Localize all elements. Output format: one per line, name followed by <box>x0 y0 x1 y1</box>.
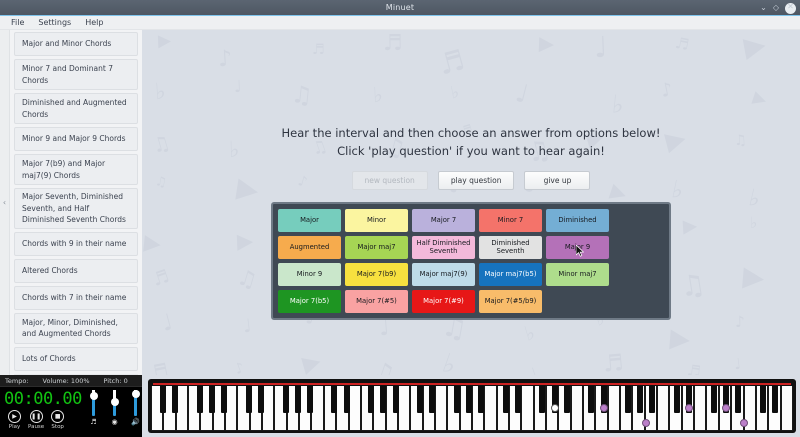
answer-button-major-7-b5[interactable]: Major 7(b5) <box>278 290 341 313</box>
sidebar-item-chords-with-7[interactable]: Chords with 7 in their name <box>14 286 138 310</box>
volume-slider[interactable]: 🔊 <box>129 390 142 437</box>
piano-black-key[interactable] <box>246 386 252 413</box>
piano-white-key[interactable] <box>521 386 533 431</box>
transport-buttons: ▶ Play ❚❚ Pause ■ Stop <box>4 410 83 430</box>
app-body: ‹ Major and Minor Chords Minor 7 and Dom… <box>0 30 800 437</box>
volume-label: Volume: 100% <box>29 377 90 385</box>
sidebar-item-major-dim-halfdim[interactable]: Major Seventh, Diminished Seventh, and H… <box>14 188 138 229</box>
piano-black-key[interactable] <box>307 386 313 413</box>
piano-black-key[interactable] <box>503 386 509 413</box>
answer-button-diminished[interactable]: Diminished <box>546 209 609 232</box>
piano-black-key[interactable] <box>344 386 350 413</box>
piano-black-key[interactable] <box>331 386 337 413</box>
sidebar-item-dim-aug[interactable]: Diminished and Augmented Chords <box>14 93 138 124</box>
lesson-list[interactable]: Major and Minor Chords Minor 7 and Domin… <box>10 30 142 375</box>
sidebar-item-major-minor-dim-aug[interactable]: Major, Minor, Diminished, and Augmented … <box>14 313 138 344</box>
mouse-cursor <box>576 245 584 257</box>
lesson-sidebar: ‹ Major and Minor Chords Minor 7 and Dom… <box>0 30 142 437</box>
piano-white-key[interactable] <box>398 386 410 431</box>
answer-button-major-7-b9[interactable]: Major 7(b9) <box>345 263 408 286</box>
chevron-left-icon: ‹ <box>3 198 6 207</box>
piano-black-key[interactable] <box>197 386 203 413</box>
answer-button-major-maj7-b5[interactable]: Major maj7(b5) <box>479 263 542 286</box>
maximize-icon[interactable]: ◇ <box>773 4 779 12</box>
piano-note-marker <box>722 404 730 412</box>
answer-button-minor-9[interactable]: Minor 9 <box>278 263 341 286</box>
piano-black-key[interactable] <box>637 386 643 413</box>
stop-label: Stop <box>51 424 64 430</box>
menu-settings[interactable]: Settings <box>31 17 78 28</box>
piano-keyboard-area <box>142 375 800 437</box>
menu-help[interactable]: Help <box>78 17 110 28</box>
sidebar-item-minor9-major9[interactable]: Minor 9 and Major 9 Chords <box>14 127 138 151</box>
piano-black-key[interactable] <box>258 386 264 413</box>
window-controls: ⌄ ◇ ✕ <box>760 0 796 16</box>
answer-button-minor-7[interactable]: Minor 7 <box>479 209 542 232</box>
menu-bar: File Settings Help <box>0 16 800 30</box>
piano-note-marker <box>551 404 559 412</box>
watermark-music-icon: ♩ <box>242 318 253 337</box>
piano-black-key[interactable] <box>209 386 215 413</box>
piano-white-key[interactable] <box>694 386 706 431</box>
answer-button-diminished-seventh[interactable]: Diminished Seventh <box>479 236 542 259</box>
piano-black-key[interactable] <box>711 386 717 413</box>
transport-area: 00:00.00 ▶ Play ❚❚ Pause ■ Stop <box>0 387 83 437</box>
watermark-music-icon: ♭ <box>522 322 537 344</box>
slider-group: ♬ ◉ 🔊 <box>83 387 142 437</box>
give-up-button[interactable]: give up <box>524 171 590 190</box>
answer-button-half-diminished-seventh[interactable]: Half Diminished Seventh <box>412 236 475 259</box>
piano-black-key[interactable] <box>295 386 301 413</box>
tempo-slider[interactable]: ♬ <box>87 390 100 437</box>
answer-button-minor-maj7[interactable]: Minor maj7 <box>546 263 609 286</box>
watermark-music-icon: ▶ <box>300 350 323 377</box>
piano-white-key[interactable] <box>608 386 620 431</box>
play-label: Play <box>8 424 21 430</box>
speaker-icon: 🔊 <box>129 418 142 426</box>
piano-black-key[interactable] <box>417 386 423 413</box>
answer-button-major[interactable]: Major <box>278 209 341 232</box>
minimize-icon[interactable]: ⌄ <box>760 4 767 12</box>
piano-white-key[interactable] <box>571 386 583 431</box>
stop-icon: ■ <box>51 410 64 423</box>
piano-black-key[interactable] <box>735 386 741 413</box>
answer-button-major-7-9[interactable]: Major 7(#9) <box>412 290 475 313</box>
sidebar-item-major-minor[interactable]: Major and Minor Chords <box>14 32 138 56</box>
piano-black-key[interactable] <box>564 386 570 413</box>
play-button[interactable]: ▶ Play <box>8 410 21 430</box>
piano-black-key[interactable] <box>454 386 460 413</box>
prompt-line-1: Hear the interval and then choose an ans… <box>142 125 800 143</box>
answer-button-major-7-5-b9[interactable]: Major 7(#5/b9) <box>479 290 542 313</box>
piano-black-key[interactable] <box>649 386 655 413</box>
watermark-music-icon: ♩ <box>733 357 742 373</box>
piano-black-key[interactable] <box>172 386 178 413</box>
answer-options-panel: MajorMinorMajor 7Minor 7DiminishedAugmen… <box>271 202 671 320</box>
piano-black-key[interactable] <box>221 386 227 413</box>
sidebar-item-minor7-dominant7[interactable]: Minor 7 and Dominant 7 Chords <box>14 59 138 90</box>
piano-black-key[interactable] <box>478 386 484 413</box>
media-player-panel: Tempo: Volume: 100% Pitch: 0 00:00.00 ▶ … <box>0 375 142 437</box>
piano-black-key[interactable] <box>160 386 166 413</box>
tempo-label: Tempo: <box>0 377 29 385</box>
player-controls: 00:00.00 ▶ Play ❚❚ Pause ■ Stop <box>0 387 142 437</box>
window-title: Minuet <box>0 3 800 12</box>
playback-timer: 00:00.00 <box>4 389 83 409</box>
sidebar-item-chords-with-9[interactable]: Chords with 9 in their name <box>14 232 138 256</box>
prompt-line-2: Click 'play question' if you want to hea… <box>142 143 800 161</box>
piano-white-key[interactable] <box>781 386 793 431</box>
piano-black-key[interactable] <box>772 386 778 413</box>
exercise-main-area: ▶♪♬♬♬▶♩♬▶♭♩♫♭♭♩♭♪▶♫♭♫♫♬♫▶▶♫♫▶♪♫♪♪▶♭♭▶▶♭♭… <box>142 30 800 437</box>
watermark-music-icon: ♬ <box>602 352 625 377</box>
question-buttons: new question play question give up <box>142 171 800 190</box>
sidebar-collapse-button[interactable]: ‹ <box>0 30 10 375</box>
sidebar-item-altered-chords[interactable]: Altered Chords <box>14 259 138 283</box>
pitch-slider[interactable]: ◉ <box>108 390 121 437</box>
piano-black-key[interactable] <box>760 386 766 413</box>
play-icon: ▶ <box>8 410 21 423</box>
close-icon[interactable]: ✕ <box>785 3 796 14</box>
piano-black-key[interactable] <box>625 386 631 413</box>
piano-white-key[interactable] <box>435 386 447 431</box>
pause-icon: ❚❚ <box>30 410 43 423</box>
play-question-button[interactable]: play question <box>438 171 515 190</box>
sidebar-item-major7b9[interactable]: Major 7(b9) and Major maj7(9) Chords <box>14 154 138 185</box>
answer-button-major-7-5[interactable]: Major 7(#5) <box>345 290 408 313</box>
exercise-content: Hear the interval and then choose an ans… <box>142 30 800 320</box>
new-question-button[interactable]: new question <box>352 171 428 190</box>
watermark-music-icon: ▶ <box>669 325 691 353</box>
piano-white-key[interactable] <box>484 386 496 431</box>
piano-black-key[interactable] <box>368 386 374 413</box>
piano-white-key[interactable] <box>311 386 323 431</box>
piano-black-key[interactable] <box>588 386 594 413</box>
piano-note-marker <box>600 404 608 412</box>
piano-black-key[interactable] <box>283 386 289 413</box>
piano-black-key[interactable] <box>393 386 399 413</box>
answer-button-major-maj7[interactable]: Major maj7 <box>345 236 408 259</box>
pitch-label: Pitch: 0 <box>90 377 128 385</box>
pause-label: Pause <box>28 424 44 430</box>
answer-button-augmented[interactable]: Augmented <box>278 236 341 259</box>
answer-button-major-maj7-9[interactable]: Major maj7(9) <box>412 263 475 286</box>
stop-button[interactable]: ■ Stop <box>51 410 64 430</box>
piano-black-key[interactable] <box>674 386 680 413</box>
menu-file[interactable]: File <box>4 17 31 28</box>
piano-white-key[interactable] <box>657 386 669 431</box>
tuning-icon: ◉ <box>108 418 121 426</box>
piano-black-key[interactable] <box>539 386 545 413</box>
answer-button-major-7[interactable]: Major 7 <box>412 209 475 232</box>
pause-button[interactable]: ❚❚ Pause <box>28 410 44 430</box>
piano-keyboard[interactable] <box>148 379 796 433</box>
watermark-music-icon: ♩ <box>378 316 391 340</box>
piano-black-key[interactable] <box>429 386 435 413</box>
exercise-prompt: Hear the interval and then choose an ans… <box>142 125 800 161</box>
piano-red-strip <box>153 383 791 385</box>
piano-black-key[interactable] <box>515 386 521 413</box>
piano-black-key[interactable] <box>380 386 386 413</box>
metronome-icon: ♬ <box>87 418 100 426</box>
piano-white-key[interactable] <box>349 386 361 431</box>
piano-black-key[interactable] <box>466 386 472 413</box>
player-status-bar: Tempo: Volume: 100% Pitch: 0 <box>0 375 142 387</box>
title-bar: Minuet ⌄ ◇ ✕ <box>0 0 800 16</box>
answer-button-major-9[interactable]: Major 9 <box>546 236 609 259</box>
sidebar-item-lots-of-chords[interactable]: Lots of Chords <box>14 347 138 371</box>
piano-keys[interactable] <box>151 386 793 431</box>
answer-button-minor[interactable]: Minor <box>345 209 408 232</box>
